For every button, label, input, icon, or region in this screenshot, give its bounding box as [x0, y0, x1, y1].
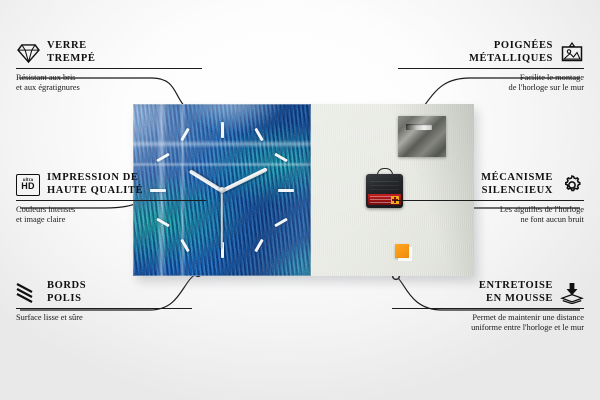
feature-divider [16, 308, 192, 309]
feature-title: IMPRESSION DE HAUTE QUALITÉ [47, 172, 143, 197]
feature-mecanisme-silencieux: MÉCANISME SILENCIEUX Les aiguilles de l'… [394, 172, 584, 225]
feature-title: ENTRETOISE EN MOUSSE [479, 280, 553, 305]
feature-subtitle: Les aiguilles de l'horloge ne font aucun… [394, 205, 584, 225]
diamond-icon [16, 41, 40, 65]
feature-divider [398, 68, 584, 69]
feature-subtitle: Surface lisse et sûre [16, 313, 192, 323]
feature-impression-haute-qualite: ultra HD IMPRESSION DE HAUTE QUALITÉ Cou… [16, 172, 206, 225]
feature-subtitle: Résistant aux bris et aux égratignures [16, 73, 202, 93]
feature-header: MÉCANISME SILENCIEUX [394, 172, 584, 197]
feature-subtitle: Facilite le montage de l'horloge sur le … [398, 73, 584, 93]
infographic-canvas: VERRE TREMPÉ Résistant aux bris et aux é… [0, 0, 600, 400]
feature-title: BORDS POLIS [47, 280, 86, 305]
feature-divider [394, 200, 584, 201]
feature-bords-polis: BORDS POLIS Surface lisse et sûre [16, 280, 192, 323]
gear-icon [560, 173, 584, 197]
feature-divider [16, 68, 202, 69]
feature-title: VERRE TREMPÉ [47, 40, 96, 65]
hd-badge: ultra HD [16, 174, 40, 196]
feature-header: VERRE TREMPÉ [16, 40, 202, 65]
feature-header: BORDS POLIS [16, 280, 192, 305]
feature-entretoise-en-mousse: ENTRETOISE EN MOUSSE Permet de maintenir… [392, 280, 584, 333]
feature-title: MÉCANISME SILENCIEUX [481, 172, 553, 197]
feature-subtitle: Permet de maintenir une distance uniform… [392, 313, 584, 333]
picture-frame-icon [560, 41, 584, 65]
feature-divider [16, 200, 206, 201]
feature-poignees-metalliques: POIGNÉES MÉTALLIQUES Facilite le montage… [398, 40, 584, 93]
feature-verre-trempe: VERRE TREMPÉ Résistant aux bris et aux é… [16, 40, 202, 93]
diagonal-lines-icon [16, 281, 40, 305]
feature-header: ENTRETOISE EN MOUSSE [392, 280, 584, 305]
arrow-down-layers-icon [560, 281, 584, 305]
hd-badge-hd-text: HD [21, 182, 34, 191]
ultra-hd-badge-icon: ultra HD [16, 173, 40, 197]
feature-title: POIGNÉES MÉTALLIQUES [469, 40, 553, 65]
feature-header: ultra HD IMPRESSION DE HAUTE QUALITÉ [16, 172, 206, 197]
feature-divider [392, 308, 584, 309]
feature-subtitle: Couleurs intenses et image claire [16, 205, 206, 225]
feature-header: POIGNÉES MÉTALLIQUES [398, 40, 584, 65]
